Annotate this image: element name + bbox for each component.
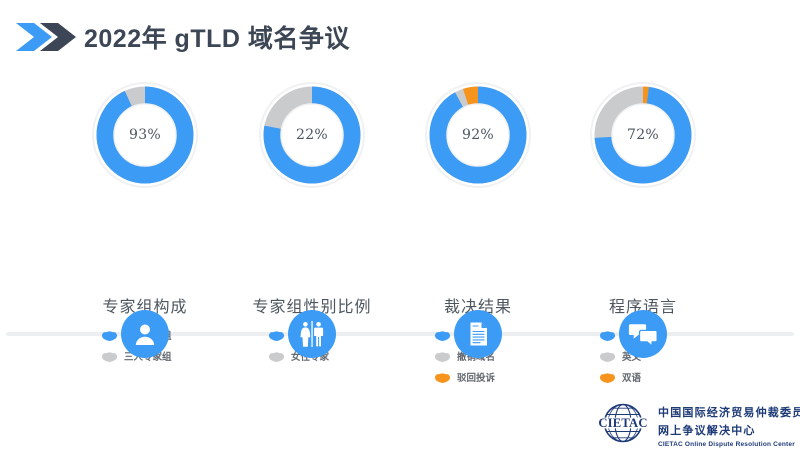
stats-columns: 93% 专家组构成 独任专家组 三人专家组 xyxy=(0,78,800,388)
footer-org-name-en: CIETAC Online Dispute Resolution Center xyxy=(658,441,800,448)
double-chevron-icon xyxy=(14,20,76,54)
donut-chart-2: 92% xyxy=(423,80,533,190)
donut-chart-0: 93% xyxy=(90,80,200,190)
person-icon xyxy=(121,310,169,358)
legend-swatch-orange-icon xyxy=(434,371,451,382)
cietac-globe-icon: CIETAC xyxy=(592,402,654,444)
footer-logo: CIETAC 中国国际经济贸易仲裁委员会 网上争议解决中心 CIETAC Onl… xyxy=(592,400,800,446)
legend-label: 双语 xyxy=(622,370,641,384)
donut-chart-1: 22% xyxy=(257,80,367,190)
chat-icon xyxy=(619,310,667,358)
legend-swatch-gray-icon xyxy=(101,350,118,361)
donut-percent-2: 92% xyxy=(423,80,533,190)
donut-percent-3: 72% xyxy=(588,80,698,190)
donut-percent-0: 93% xyxy=(90,80,200,190)
document-icon xyxy=(454,310,502,358)
legend-swatch-blue-icon xyxy=(434,329,451,340)
legend-item: 双语 xyxy=(543,368,743,385)
donut-percent-1: 22% xyxy=(257,80,367,190)
legend-label: 驳回投诉 xyxy=(457,370,495,384)
footer-center-name-cn: 网上争议解决中心 xyxy=(658,422,800,438)
donut-chart-3: 72% xyxy=(588,80,698,190)
footer-org-name-cn: 中国国际经济贸易仲裁委员会 xyxy=(658,404,800,420)
page-header: 2022年 gTLD 域名争议 xyxy=(0,0,800,70)
legend-swatch-gray-icon xyxy=(599,350,616,361)
legend-swatch-blue-icon xyxy=(599,329,616,340)
infographic-page: 2022年 gTLD 域名争议 93% 专家组构成 xyxy=(0,0,800,450)
legend-swatch-gray-icon xyxy=(268,350,285,361)
legend-swatch-blue-icon xyxy=(268,329,285,340)
gender-icon xyxy=(288,310,336,358)
cietac-wordmark: CIETAC xyxy=(598,416,647,430)
legend-swatch-gray-icon xyxy=(434,350,451,361)
legend-swatch-orange-icon xyxy=(599,371,616,382)
footer-logo-text: 中国国际经济贸易仲裁委员会 网上争议解决中心 CIETAC Online Dis… xyxy=(658,404,800,448)
page-title: 2022年 gTLD 域名争议 xyxy=(84,19,350,55)
legend-swatch-blue-icon xyxy=(101,329,118,340)
